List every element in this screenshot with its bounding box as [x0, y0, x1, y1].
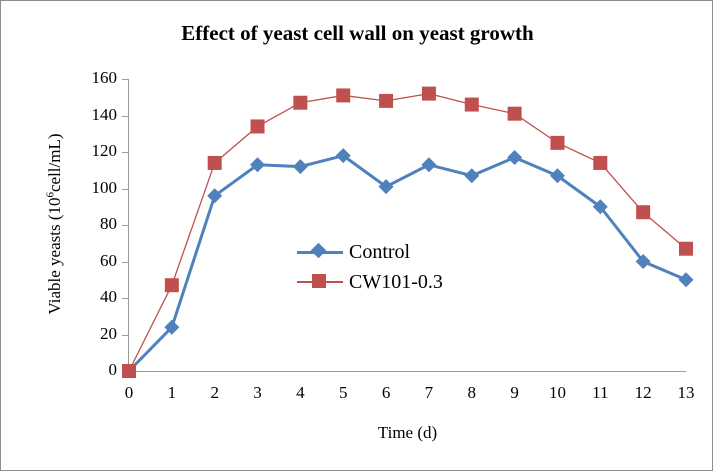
- square-marker-icon: [550, 136, 564, 150]
- y-axis-title: Viable yeasts (106cell/mL): [45, 78, 65, 370]
- y-axis-title-tail: cell/mL): [45, 133, 64, 192]
- y-axis-title-exponent: 6: [44, 192, 56, 198]
- x-axis-tick-label: 11: [580, 383, 620, 403]
- square-marker-icon: [293, 96, 307, 110]
- x-axis-tick-label: 6: [366, 383, 406, 403]
- plot-area: [129, 79, 686, 371]
- diamond-marker-icon: [421, 157, 436, 172]
- diamond-marker-icon: [464, 168, 479, 183]
- x-axis-tick-label: 10: [537, 383, 577, 403]
- diamond-marker-icon: [293, 159, 308, 174]
- legend-item-control: Control: [297, 237, 487, 267]
- x-axis-tick-label: 5: [323, 383, 363, 403]
- square-marker-icon: [465, 98, 479, 112]
- legend-label-control: Control: [343, 241, 410, 264]
- x-axis-line: [128, 371, 686, 372]
- y-axis-tick-label: 80: [77, 214, 117, 234]
- x-axis-tick-label: 8: [452, 383, 492, 403]
- legend-item-treatment: CW101-0.3: [297, 267, 487, 297]
- y-axis-tick-label: 60: [77, 251, 117, 271]
- square-marker-icon: [251, 119, 265, 133]
- square-marker-icon: [312, 274, 326, 288]
- legend-swatch-treatment: [297, 271, 343, 293]
- diamond-marker-icon: [507, 150, 522, 165]
- x-axis-tick-label: 12: [623, 383, 663, 403]
- square-marker-icon: [379, 94, 393, 108]
- y-axis-tick-label: 160: [77, 68, 117, 88]
- y-axis-tick-label: 0: [77, 360, 117, 380]
- legend-swatch-control: [297, 241, 343, 263]
- diamond-marker-icon: [679, 272, 694, 287]
- x-axis-tick-label: 9: [495, 383, 535, 403]
- square-marker-icon: [208, 156, 222, 170]
- x-axis-tick-label: 13: [666, 383, 706, 403]
- y-axis-tick-label: 140: [77, 105, 117, 125]
- square-marker-icon: [508, 107, 522, 121]
- diamond-marker-icon: [311, 243, 327, 259]
- square-marker-icon: [636, 205, 650, 219]
- legend-label-treatment: CW101-0.3: [343, 271, 443, 294]
- square-marker-icon: [679, 242, 693, 256]
- chart-figure: Effect of yeast cell wall on yeast growt…: [0, 0, 713, 471]
- y-axis-tick-label: 100: [77, 178, 117, 198]
- square-marker-icon: [165, 278, 179, 292]
- x-axis-title: Time (d): [129, 423, 686, 443]
- x-axis-tick-label: 7: [409, 383, 449, 403]
- square-marker-icon: [593, 156, 607, 170]
- square-marker-icon: [422, 87, 436, 101]
- x-axis-tick-label: 2: [195, 383, 235, 403]
- square-marker-icon: [122, 364, 136, 378]
- series-line-cw101-0-3: [129, 94, 686, 371]
- x-axis-tick-label: 4: [280, 383, 320, 403]
- y-axis-title-base: Viable yeasts (10: [45, 198, 64, 315]
- x-axis-tick-label: 3: [238, 383, 278, 403]
- x-axis-tick-label: 1: [152, 383, 192, 403]
- chart-legend: Control CW101-0.3: [297, 237, 487, 297]
- y-axis-tick-label: 40: [77, 287, 117, 307]
- data-series-canvas: [129, 79, 686, 371]
- square-marker-icon: [336, 88, 350, 102]
- y-axis-tick-label: 20: [77, 324, 117, 344]
- y-axis-tick-label: 120: [77, 141, 117, 161]
- x-axis-tick-label: 0: [109, 383, 149, 403]
